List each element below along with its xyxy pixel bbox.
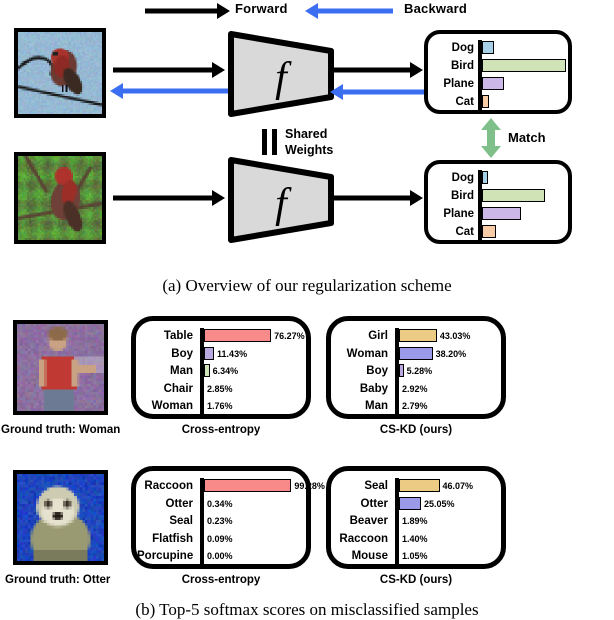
- forward-arrow-top2-icon: [333, 62, 425, 78]
- chart-category-label: Baby: [332, 384, 388, 396]
- chart-category-label: Beaver: [332, 516, 388, 528]
- chart-woman-cross-entropy: Table76.27%Boy11.43%Man6.34%Chair2.85%Wo…: [131, 316, 311, 419]
- backward-arrow-top2-icon: [330, 84, 428, 100]
- forward-arrow-top-icon: [113, 62, 228, 78]
- prediction-bar: [482, 225, 496, 238]
- prediction-category-label: Plane: [430, 79, 474, 91]
- prediction-bar: [482, 95, 489, 108]
- forward-arrow-bottom2-icon: [333, 190, 425, 206]
- chart-otter-cskd-title: CS-KD (ours): [326, 574, 506, 586]
- chart-value-label: 25.05%: [424, 500, 455, 509]
- backward-arrow-icon: [305, 2, 415, 20]
- prediction-category-label: Cat: [430, 97, 474, 109]
- chart-value-label: 1.05%: [402, 552, 428, 561]
- chart-category-label: Seal: [332, 481, 388, 493]
- prediction-bar: [482, 189, 545, 202]
- chart-value-label: 6.34%: [213, 367, 239, 376]
- chart-category-label: Woman: [332, 349, 388, 361]
- chart-woman-cskd-title: CS-KD (ours): [326, 424, 506, 436]
- chart-woman-cross-entropy-title: Cross-entropy: [131, 424, 311, 436]
- prediction-category-label: Bird: [430, 191, 474, 203]
- chart-value-label: 2.92%: [402, 385, 428, 394]
- network-block-bottom: f: [226, 155, 336, 245]
- chart-value-label: 2.85%: [207, 385, 233, 394]
- chart-category-label: Raccoon: [332, 534, 388, 546]
- prediction-bar: [482, 207, 521, 220]
- chart-value-label: 1.89%: [402, 517, 428, 526]
- prediction-bar: [482, 171, 488, 184]
- input-image-bird-sky: [14, 28, 106, 118]
- chart-otter-cross-entropy: Raccoon99.28%Otter0.34%Seal0.23%Flatfish…: [131, 466, 311, 569]
- backward-arrow-top-icon: [110, 83, 230, 99]
- match-double-arrow-icon: [479, 118, 503, 158]
- prediction-bar: [482, 77, 504, 90]
- figure-root: Forward Backward f: [0, 0, 614, 618]
- chart-value-label: 76.27%: [274, 332, 305, 341]
- chart-value-label: 38.20%: [436, 350, 467, 359]
- match-label: Match: [508, 130, 546, 145]
- prediction-category-label: Cat: [430, 227, 474, 239]
- chart-bar: [204, 479, 291, 492]
- prediction-category-label: Plane: [430, 209, 474, 221]
- chart-bar: [399, 479, 440, 492]
- ground-truth-woman-label: Ground truth: Woman: [1, 424, 120, 436]
- chart-category-label: Boy: [332, 366, 388, 378]
- input-image-bird-tree: [14, 152, 106, 244]
- chart-category-label: Seal: [137, 516, 193, 528]
- ground-truth-otter-label: Ground truth: Otter: [5, 574, 110, 586]
- chart-category-label: Mouse: [332, 551, 388, 563]
- chart-bar: [399, 497, 421, 510]
- chart-value-label: 0.00%: [207, 552, 233, 561]
- chart-otter-cskd: Seal46.07%Otter25.05%Beaver1.89%Raccoon1…: [326, 466, 506, 569]
- chart-woman-cskd: Girl43.03%Woman38.20%Boy5.28%Baby2.92%Ma…: [326, 316, 506, 419]
- chart-category-label: Table: [137, 331, 193, 343]
- chart-value-label: 43.03%: [440, 332, 471, 341]
- chart-value-label: 1.40%: [402, 535, 428, 544]
- legend-forward-label: Forward: [235, 1, 288, 16]
- chart-bar: [204, 347, 214, 360]
- chart-bar: [399, 329, 437, 342]
- prediction-category-label: Dog: [430, 43, 474, 55]
- chart-category-label: Chair: [137, 384, 193, 396]
- caption-a: (a) Overview of our regularization schem…: [107, 276, 507, 296]
- chart-otter-cross-entropy-title: Cross-entropy: [131, 574, 311, 586]
- caption-b: (b) Top-5 softmax scores on misclassifie…: [87, 600, 527, 620]
- bottom-prediction-box: DogBirdPlaneCat: [424, 160, 572, 244]
- chart-bar: [204, 329, 271, 342]
- network-block-top: f: [226, 29, 336, 119]
- chart-category-label: Man: [137, 366, 193, 378]
- chart-category-label: Flatfish: [137, 534, 193, 546]
- chart-value-label: 0.34%: [207, 500, 233, 509]
- chart-value-label: 2.79%: [402, 402, 428, 411]
- forward-arrow-bottom-icon: [113, 190, 228, 206]
- shared-weights-label-1: Shared: [285, 127, 327, 141]
- shared-weights-bar-2: [272, 129, 277, 155]
- chart-value-label: 0.09%: [207, 535, 233, 544]
- chart-category-label: Porcupine: [137, 551, 193, 563]
- chart-bar: [399, 347, 433, 360]
- legend-backward-label: Backward: [404, 1, 467, 16]
- chart-bar: [399, 364, 404, 377]
- prediction-bar: [482, 41, 494, 54]
- sample-image-otter: [13, 470, 108, 565]
- prediction-category-label: Bird: [430, 61, 474, 73]
- chart-category-label: Otter: [137, 499, 193, 511]
- prediction-category-label: Dog: [430, 173, 474, 185]
- chart-category-label: Man: [332, 401, 388, 413]
- chart-value-label: 5.28%: [407, 367, 433, 376]
- chart-value-label: 99.28%: [294, 482, 325, 491]
- chart-value-label: 1.76%: [207, 402, 233, 411]
- chart-bar: [204, 364, 210, 377]
- sample-image-woman: [13, 320, 108, 415]
- chart-value-label: 11.43%: [217, 350, 247, 359]
- prediction-bar: [482, 59, 566, 72]
- chart-category-label: Boy: [137, 349, 193, 361]
- chart-value-label: 46.07%: [443, 482, 474, 491]
- top-prediction-box: DogBirdPlaneCat: [424, 30, 572, 114]
- shared-weights-bar-1: [262, 129, 267, 155]
- chart-category-label: Otter: [332, 499, 388, 511]
- chart-value-label: 0.23%: [207, 517, 233, 526]
- chart-category-label: Girl: [332, 331, 388, 343]
- chart-category-label: Raccoon: [137, 481, 193, 493]
- chart-category-label: Woman: [137, 401, 193, 413]
